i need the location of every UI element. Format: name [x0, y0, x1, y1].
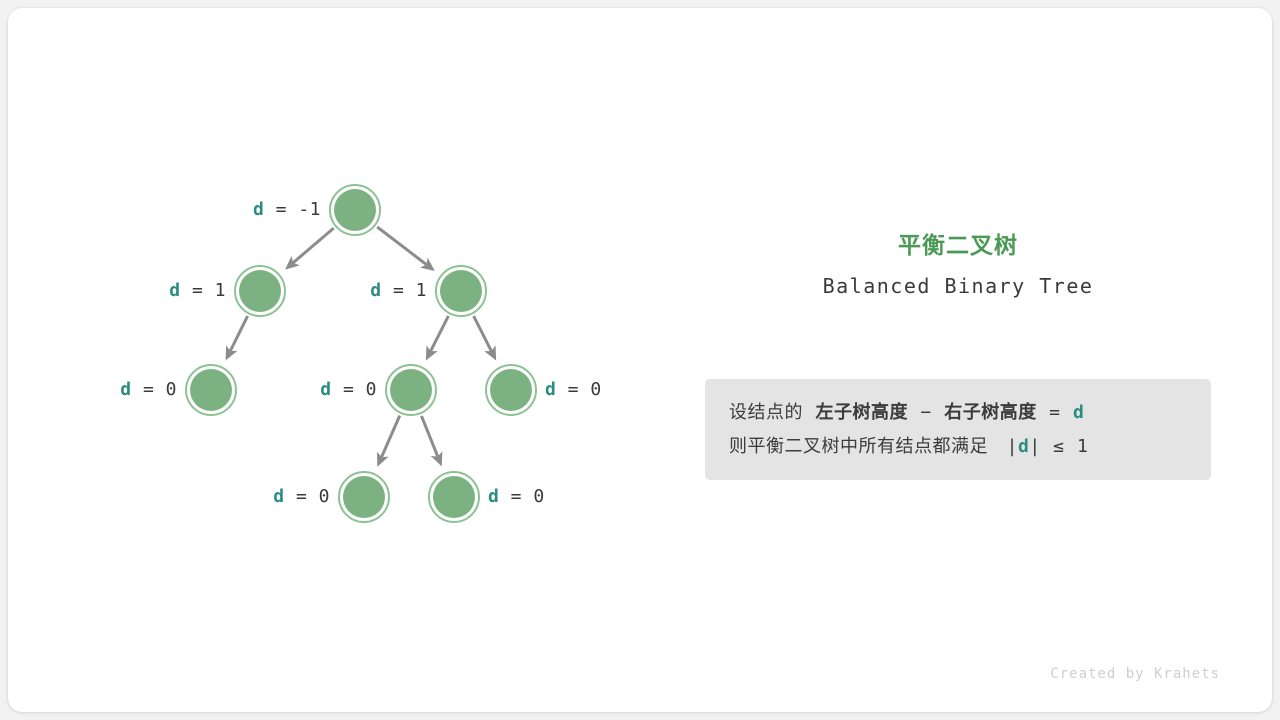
credit-text: Created by Krahets [1050, 666, 1220, 682]
abs-bar-open: | [1007, 436, 1018, 457]
balance-value: = -1 [264, 199, 321, 220]
tree-edge [421, 416, 440, 464]
page-title-en: Balanced Binary Tree [705, 274, 1211, 298]
balance-value: = 0 [499, 486, 544, 507]
tree-edge [227, 316, 248, 358]
node-fill [239, 270, 281, 312]
tree-edge [377, 227, 432, 269]
tree-edge [287, 228, 333, 267]
balance-variable-d: d [169, 280, 180, 301]
content-card: d = -1d = 1d = 1d = 0d = 0d = 0d = 0d = … [8, 8, 1272, 712]
balance-value: = 0 [285, 486, 330, 507]
balance-variable-d: d [488, 486, 499, 507]
info-prefix-1: 设结点的 [729, 402, 803, 423]
info-line-1: 设结点的 左子树高度 − 右子树高度 = d [729, 396, 1187, 430]
balance-value: = 0 [556, 379, 601, 400]
balance-variable-d: d [370, 280, 381, 301]
node-fill [334, 189, 376, 231]
info-bound-value: 1 [1077, 436, 1088, 457]
tree-edges [227, 227, 495, 464]
tree-node [330, 185, 380, 235]
balance-value: = 1 [382, 280, 427, 301]
tree-node [235, 266, 285, 316]
balance-value: = 0 [332, 379, 377, 400]
node-balance-label: d = 0 [273, 488, 330, 506]
tree-edge [378, 416, 399, 464]
balance-variable-d: d [273, 486, 284, 507]
node-balance-label: d = 0 [545, 381, 602, 399]
info-relation-sign: ≤ [1053, 436, 1064, 457]
tree-node [386, 365, 436, 415]
info-term-right-subtree-height: 右子树高度 [944, 402, 1037, 423]
tree-edge [474, 316, 495, 358]
info-equals-sign: = [1049, 402, 1060, 423]
balance-value: = 0 [132, 379, 177, 400]
tree-edge [427, 316, 448, 358]
balance-variable-d: d [545, 379, 556, 400]
tree-nodes [186, 185, 536, 522]
tree-node [186, 365, 236, 415]
node-balance-label: d = 1 [370, 282, 427, 300]
diagram-canvas: d = -1d = 1d = 1d = 0d = 0d = 0d = 0d = … [0, 0, 1280, 720]
node-fill [440, 270, 482, 312]
node-balance-label: d = 0 [488, 488, 545, 506]
binary-tree-graphic [8, 8, 1272, 712]
balance-variable-d: d [320, 379, 331, 400]
info-variable-d-2: d [1018, 436, 1029, 457]
info-minus-sign: − [920, 402, 931, 423]
node-fill [190, 369, 232, 411]
title-block: 平衡二叉树 Balanced Binary Tree [705, 233, 1211, 298]
info-variable-d-1: d [1073, 402, 1084, 423]
node-balance-label: d = -1 [253, 201, 321, 219]
node-balance-label: d = 0 [320, 381, 377, 399]
node-fill [390, 369, 432, 411]
node-balance-label: d = 1 [169, 282, 226, 300]
info-term-left-subtree-height: 左子树高度 [815, 402, 908, 423]
tree-node [486, 365, 536, 415]
balance-value: = 1 [181, 280, 226, 301]
abs-bar-close: | [1029, 436, 1040, 457]
node-fill [343, 476, 385, 518]
page-title-cn: 平衡二叉树 [705, 233, 1211, 261]
info-line-2: 则平衡二叉树中所有结点都满足 |d| ≤ 1 [729, 430, 1187, 464]
tree-node [339, 472, 389, 522]
node-fill [433, 476, 475, 518]
definition-info-box: 设结点的 左子树高度 − 右子树高度 = d 则平衡二叉树中所有结点都满足 |d… [705, 379, 1211, 480]
node-balance-label: d = 0 [120, 381, 177, 399]
tree-node [429, 472, 479, 522]
tree-node [436, 266, 486, 316]
balance-variable-d: d [253, 199, 264, 220]
node-fill [490, 369, 532, 411]
balance-variable-d: d [120, 379, 131, 400]
info-prefix-2: 则平衡二叉树中所有结点都满足 [729, 436, 988, 457]
